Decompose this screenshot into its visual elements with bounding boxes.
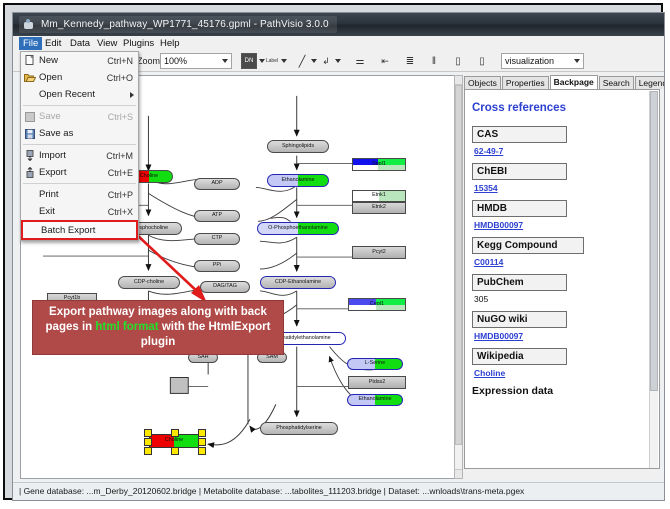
- cross-references-heading: Cross references: [472, 102, 651, 114]
- menu-item-label: Import: [39, 150, 106, 161]
- menu-item-label: Export: [39, 167, 108, 178]
- node-label: Choline: [165, 438, 183, 443]
- zoom-combobox[interactable]: 100%: [160, 53, 232, 69]
- xref-hmdb: HMDB HMDB00097: [472, 200, 651, 230]
- gene-etnk1[interactable]: Etnk1: [352, 190, 406, 202]
- node-sphingolipids[interactable]: Sphingolipids: [267, 140, 329, 153]
- xref-value-link[interactable]: 15354: [474, 183, 651, 193]
- menu-bar: File Edit Data View Plugins Help: [13, 36, 664, 52]
- chevron-down-icon: [222, 59, 228, 63]
- gene-label: Ptdss2: [369, 380, 385, 385]
- export-icon: [21, 164, 39, 181]
- interaction-icon[interactable]: ↲: [319, 54, 333, 68]
- outer-border: Mm_Kennedy_pathway_WP1771_45176.gpml - P…: [3, 3, 663, 500]
- canvas-vertical-scrollbar[interactable]: [454, 75, 463, 479]
- node-ethanolamine-bottom[interactable]: Ethanolamine: [347, 394, 403, 406]
- menu-separator: [23, 144, 136, 145]
- gene-etnk2[interactable]: Etnk2: [352, 202, 406, 214]
- gene-label: Etnk1: [372, 193, 386, 198]
- gene-sgpl1-expression-bar: [352, 165, 406, 171]
- xref-cas: CAS 62-49-7: [472, 126, 651, 156]
- menu-item-label: Save: [39, 111, 108, 122]
- file-menu-dropdown[interactable]: New Ctrl+N Open Ctrl+O Open Recent: [20, 51, 139, 241]
- blank-icon: [21, 203, 39, 220]
- node-adp[interactable]: ADP: [194, 178, 240, 190]
- menu-item-accel: Ctrl+N: [107, 56, 138, 66]
- menu-item-print[interactable]: Print Ctrl+P: [21, 186, 138, 203]
- submenu-arrow-icon: [130, 92, 134, 98]
- menu-item-open[interactable]: Open Ctrl+O: [21, 69, 138, 86]
- menu-data[interactable]: Data: [66, 37, 94, 50]
- zoom-label: Zoom:: [137, 56, 163, 66]
- xref-value-link[interactable]: HMDB00097: [474, 220, 651, 230]
- xref-source-label: CAS: [472, 126, 567, 143]
- menu-item-accel: Ctrl+X: [108, 207, 138, 217]
- tab-search[interactable]: Search: [599, 76, 634, 89]
- tab-legend[interactable]: Legend: [635, 76, 665, 89]
- blank-icon: [21, 186, 39, 203]
- node-label: CDP-Ethanolamine: [275, 280, 321, 285]
- window-title: Mm_Kennedy_pathway_WP1771_45176.gpml - P…: [41, 19, 329, 30]
- align-left-icon[interactable]: ⇤: [378, 54, 392, 68]
- node-label: SAM: [266, 355, 278, 360]
- node-ethanolamine-top[interactable]: Ethanolamine: [267, 174, 329, 187]
- datanode-icon[interactable]: DN: [241, 53, 257, 69]
- menu-separator: [23, 105, 136, 106]
- status-bar: | Gene database: ...m_Derby_20120602.bri…: [13, 482, 664, 500]
- menu-item-label: Exit: [39, 206, 108, 217]
- scroll-down-arrow-icon[interactable]: [455, 469, 462, 478]
- menu-item-import[interactable]: Import Ctrl+M: [21, 147, 138, 164]
- node-l-serine[interactable]: L-Serine: [347, 358, 403, 370]
- chevron-down-icon: [574, 59, 580, 63]
- save-icon: [21, 108, 39, 125]
- gene-label: Etnk2: [372, 205, 386, 210]
- tab-properties[interactable]: Properties: [502, 76, 549, 89]
- line-dropdown-icon[interactable]: [311, 59, 317, 63]
- xref-value-link[interactable]: 62-49-7: [474, 146, 651, 156]
- menu-item-export[interactable]: Export Ctrl+E: [21, 164, 138, 181]
- xref-value-link[interactable]: HMDB00097: [474, 331, 651, 341]
- xref-chebi: ChEBI 15354: [472, 163, 651, 193]
- xref-value-text: 305: [474, 294, 651, 304]
- line-icon[interactable]: ╱: [295, 54, 309, 68]
- status-bar-text: | Gene database: ...m_Derby_20120602.bri…: [19, 486, 524, 496]
- gene-ptdss2[interactable]: Ptdss2: [348, 376, 406, 389]
- menu-item-open-recent[interactable]: Open Recent: [21, 86, 138, 103]
- node-phosphatidylserine[interactable]: Phosphatidylserine: [260, 422, 338, 435]
- menu-item-label: Open: [39, 72, 107, 83]
- menu-item-label: Batch Export: [41, 225, 136, 236]
- scrollbar-thumb[interactable]: [455, 85, 462, 445]
- blank-icon: [23, 222, 41, 239]
- xref-wikipedia: Wikipedia Choline: [472, 348, 651, 378]
- node-label: Sphingolipids: [282, 144, 314, 149]
- import-icon: [21, 147, 39, 164]
- scroll-up-arrow-icon[interactable]: [455, 76, 462, 85]
- callout-text-after: with the HtmlExport plugin: [141, 321, 271, 348]
- same-height-icon[interactable]: ▯: [475, 54, 489, 68]
- pathvisio-window: Mm_Kennedy_pathway_WP1771_45176.gpml - P…: [12, 12, 665, 501]
- xref-pubchem: PubChem 305: [472, 274, 651, 304]
- menu-item-save: Save Ctrl+S: [21, 108, 138, 125]
- menu-item-label: Open Recent: [39, 89, 138, 100]
- xref-source-label: Wikipedia: [472, 348, 567, 365]
- app-icon: [23, 19, 35, 31]
- xref-kegg-compound: Kegg Compound C00114: [472, 237, 651, 267]
- zoom-value: 100%: [164, 56, 187, 66]
- node-cdp-ethanolamine[interactable]: CDP-Ethanolamine: [260, 276, 336, 289]
- align-top-icon[interactable]: ⚌: [353, 54, 367, 68]
- xref-source-label: ChEBI: [472, 163, 567, 180]
- menu-edit[interactable]: Edit: [41, 37, 65, 50]
- callout-highlight: html format: [95, 321, 158, 333]
- backpage-panel: Cross references CAS 62-49-7 ChEBI 15354…: [464, 89, 660, 469]
- node-label: O-Phosphoethanolamine: [268, 226, 328, 231]
- xref-value-link[interactable]: C00114: [474, 257, 651, 267]
- menu-item-label: New: [39, 55, 107, 66]
- menu-item-accel: Ctrl+E: [108, 168, 138, 178]
- menu-file[interactable]: File: [19, 37, 42, 50]
- gene-pcyt2[interactable]: Pcyt2: [352, 246, 406, 259]
- blank-icon: [21, 86, 39, 103]
- gene-label: Pcyt2: [372, 250, 385, 255]
- menu-separator: [23, 183, 136, 184]
- screenshot-root: Mm_Kennedy_pathway_WP1771_45176.gpml - P…: [0, 0, 670, 509]
- title-bar: Mm_Kennedy_pathway_WP1771_45176.gpml - P…: [13, 13, 664, 37]
- node-label: Phosphatidylserine: [276, 426, 322, 431]
- node-o-phosphoethanolamine[interactable]: O-Phosphoethanolamine: [257, 222, 339, 235]
- same-width-icon[interactable]: ▯: [451, 54, 465, 68]
- xref-source-label: NuGO wiki: [472, 311, 567, 328]
- menu-item-label: Print: [39, 189, 108, 200]
- node-label: Choline: [140, 174, 158, 179]
- distribute-icon[interactable]: ‖: [427, 54, 441, 68]
- backpage-scrollbar[interactable]: [649, 91, 658, 469]
- gene-cept1-expression-bar: [348, 305, 406, 311]
- side-panel: Objects Properties Backpage Search Legen…: [464, 75, 660, 479]
- xref-value-link[interactable]: Choline: [474, 368, 651, 378]
- node-label: Ethanolamine: [282, 178, 315, 183]
- menu-item-accel: Ctrl+O: [107, 73, 138, 83]
- xref-source-label: Kegg Compound: [472, 237, 584, 254]
- menu-item-label: Save as: [39, 128, 133, 139]
- menu-item-save-as[interactable]: Save as: [21, 125, 138, 142]
- menu-view[interactable]: View: [93, 37, 121, 50]
- side-panel-tabs: Objects Properties Backpage Search Legen…: [464, 75, 665, 89]
- menu-help[interactable]: Help: [156, 37, 184, 50]
- scrollbar-thumb[interactable]: [650, 91, 658, 391]
- annotation-callout: Export pathway images along with back pa…: [32, 300, 284, 355]
- xref-source-label: PubChem: [472, 274, 567, 291]
- interaction-dropdown-icon[interactable]: [335, 59, 341, 63]
- menu-item-new[interactable]: New Ctrl+N: [21, 52, 138, 69]
- label-dropdown-icon[interactable]: [281, 59, 287, 63]
- tab-objects[interactable]: Objects: [464, 76, 501, 89]
- xref-source-label: HMDB: [472, 200, 567, 217]
- node-label: Ethanolamine: [359, 397, 392, 402]
- align-center-icon[interactable]: ≣: [403, 54, 417, 68]
- save-as-icon: [21, 125, 39, 142]
- menu-item-accel: Ctrl+M: [106, 151, 138, 161]
- node-label: L-Serine: [365, 361, 385, 366]
- menu-item-batch-export[interactable]: Batch Export: [21, 220, 138, 240]
- menu-item-accel: Ctrl+P: [108, 190, 138, 200]
- expression-data-heading: Expression data: [472, 385, 651, 397]
- menu-plugins[interactable]: Plugins: [119, 37, 158, 50]
- node-label: SAH: [197, 355, 208, 360]
- label-icon[interactable]: Label: [265, 54, 279, 68]
- folder-open-icon: [21, 69, 39, 86]
- tab-backpage[interactable]: Backpage: [550, 75, 598, 89]
- visualization-combobox[interactable]: visualization: [501, 53, 584, 69]
- menu-item-exit[interactable]: Exit Ctrl+X: [21, 203, 138, 220]
- new-file-icon: [21, 52, 39, 69]
- node-label: ADP: [211, 181, 222, 186]
- visualization-value: visualization: [505, 56, 554, 66]
- menu-item-accel: Ctrl+S: [108, 112, 138, 122]
- xref-nugo-wiki: NuGO wiki HMDB00097: [472, 311, 651, 341]
